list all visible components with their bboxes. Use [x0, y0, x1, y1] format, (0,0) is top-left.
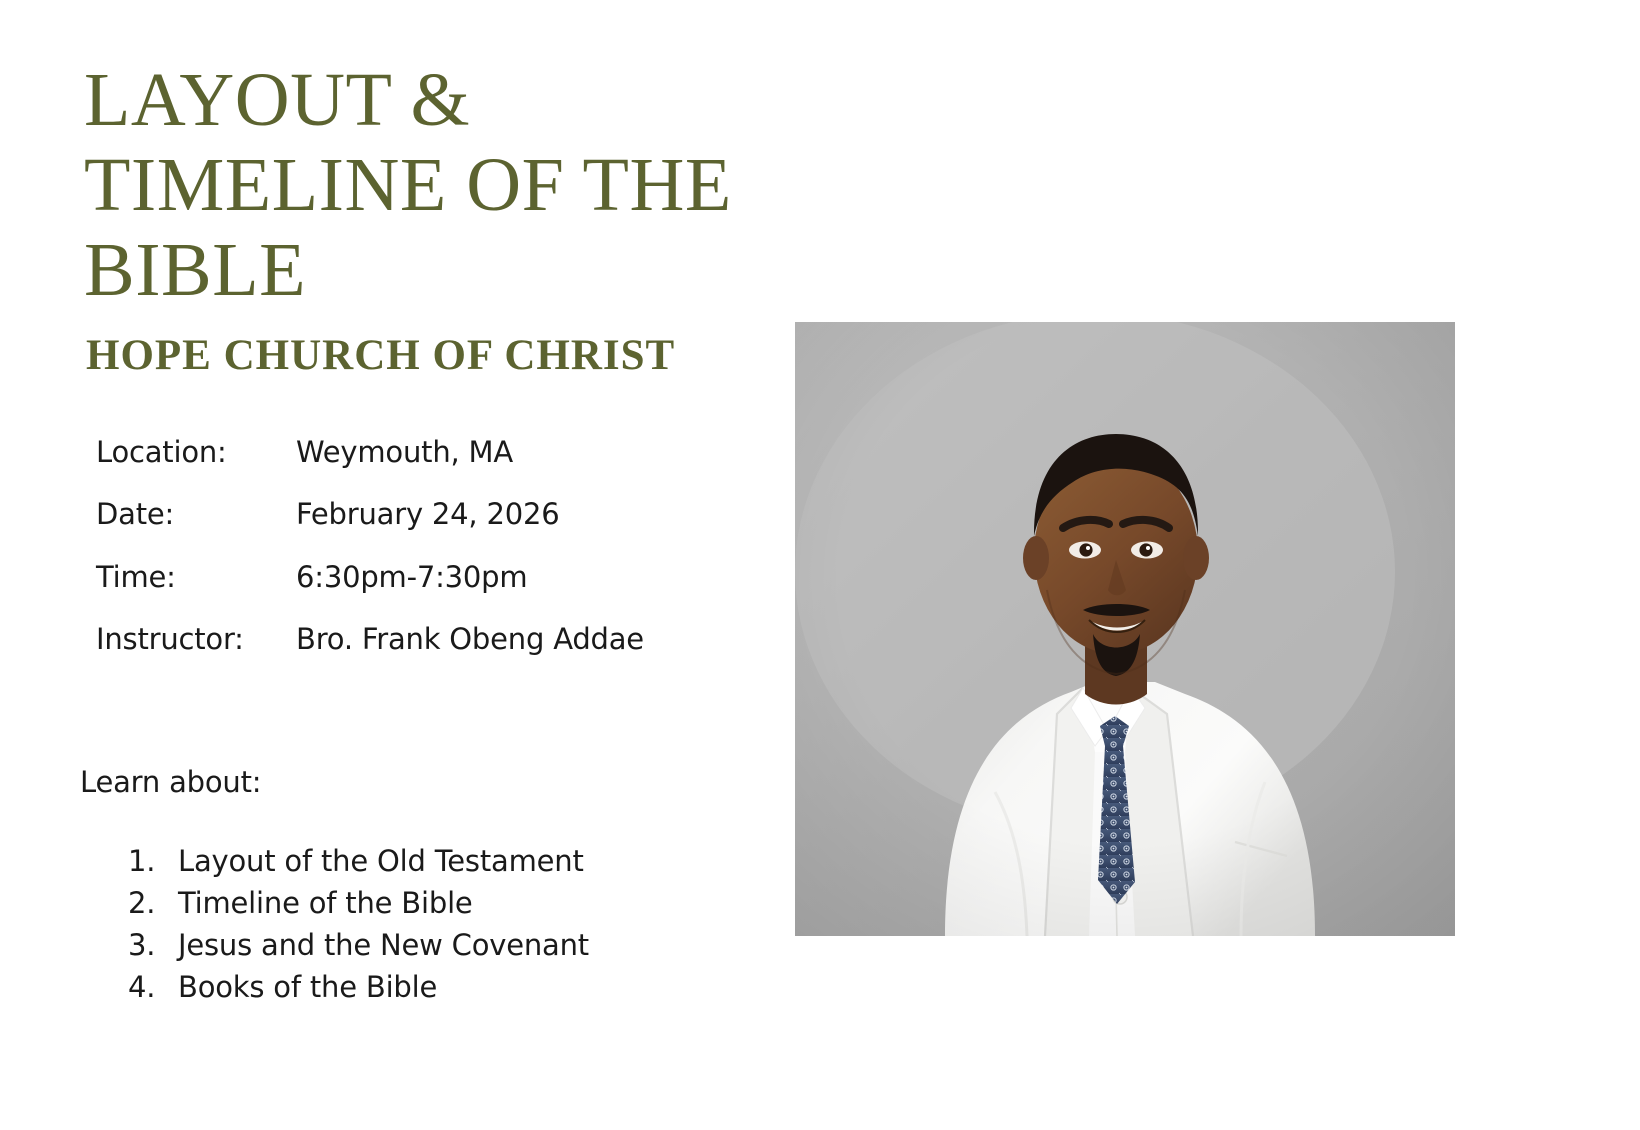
detail-value-instructor: Bro. Frank Obeng Addae [296, 624, 756, 654]
detail-label-instructor: Instructor: [96, 624, 296, 654]
table-row: Time: 6:30pm-7:30pm [96, 562, 756, 624]
detail-label-location: Location: [96, 437, 296, 499]
detail-label-time: Time: [96, 562, 296, 624]
list-item: 4. Books of the Bible [128, 966, 808, 1008]
detail-value-time: 6:30pm-7:30pm [296, 562, 756, 624]
event-details-table: Location: Weymouth, MA Date: February 24… [96, 437, 756, 655]
headline-block: LAYOUT & TIMELINE OF THE BIBLE HOPE CHUR… [84, 58, 784, 380]
detail-value-date: February 24, 2026 [296, 499, 756, 561]
list-item: 1. Layout of the Old Testament [128, 840, 808, 882]
list-item: 2. Timeline of the Bible [128, 882, 808, 924]
page-title: LAYOUT & TIMELINE OF THE BIBLE [84, 58, 784, 313]
portrait-illustration [795, 322, 1455, 936]
list-item-label: Books of the Bible [178, 966, 808, 1008]
flyer-canvas: LAYOUT & TIMELINE OF THE BIBLE HOPE CHUR… [0, 0, 1640, 1130]
table-row: Instructor: Bro. Frank Obeng Addae [96, 624, 756, 654]
detail-value-location: Weymouth, MA [296, 437, 756, 499]
list-item-number: 3. [128, 924, 178, 966]
table-row: Date: February 24, 2026 [96, 499, 756, 561]
organization-name: HOPE CHURCH OF CHRIST [86, 331, 784, 380]
list-item: 3. Jesus and the New Covenant [128, 924, 808, 966]
list-item-number: 1. [128, 840, 178, 882]
list-item-label: Jesus and the New Covenant [178, 924, 808, 966]
detail-label-date: Date: [96, 499, 296, 561]
list-item-label: Timeline of the Bible [178, 882, 808, 924]
instructor-portrait-photo [795, 322, 1455, 936]
learn-about-heading: Learn about: [80, 765, 261, 799]
learn-about-list: 1. Layout of the Old Testament 2. Timeli… [128, 840, 808, 1008]
list-item-label: Layout of the Old Testament [178, 840, 808, 882]
list-item-number: 4. [128, 966, 178, 1008]
list-item-number: 2. [128, 882, 178, 924]
table-row: Location: Weymouth, MA [96, 437, 756, 499]
